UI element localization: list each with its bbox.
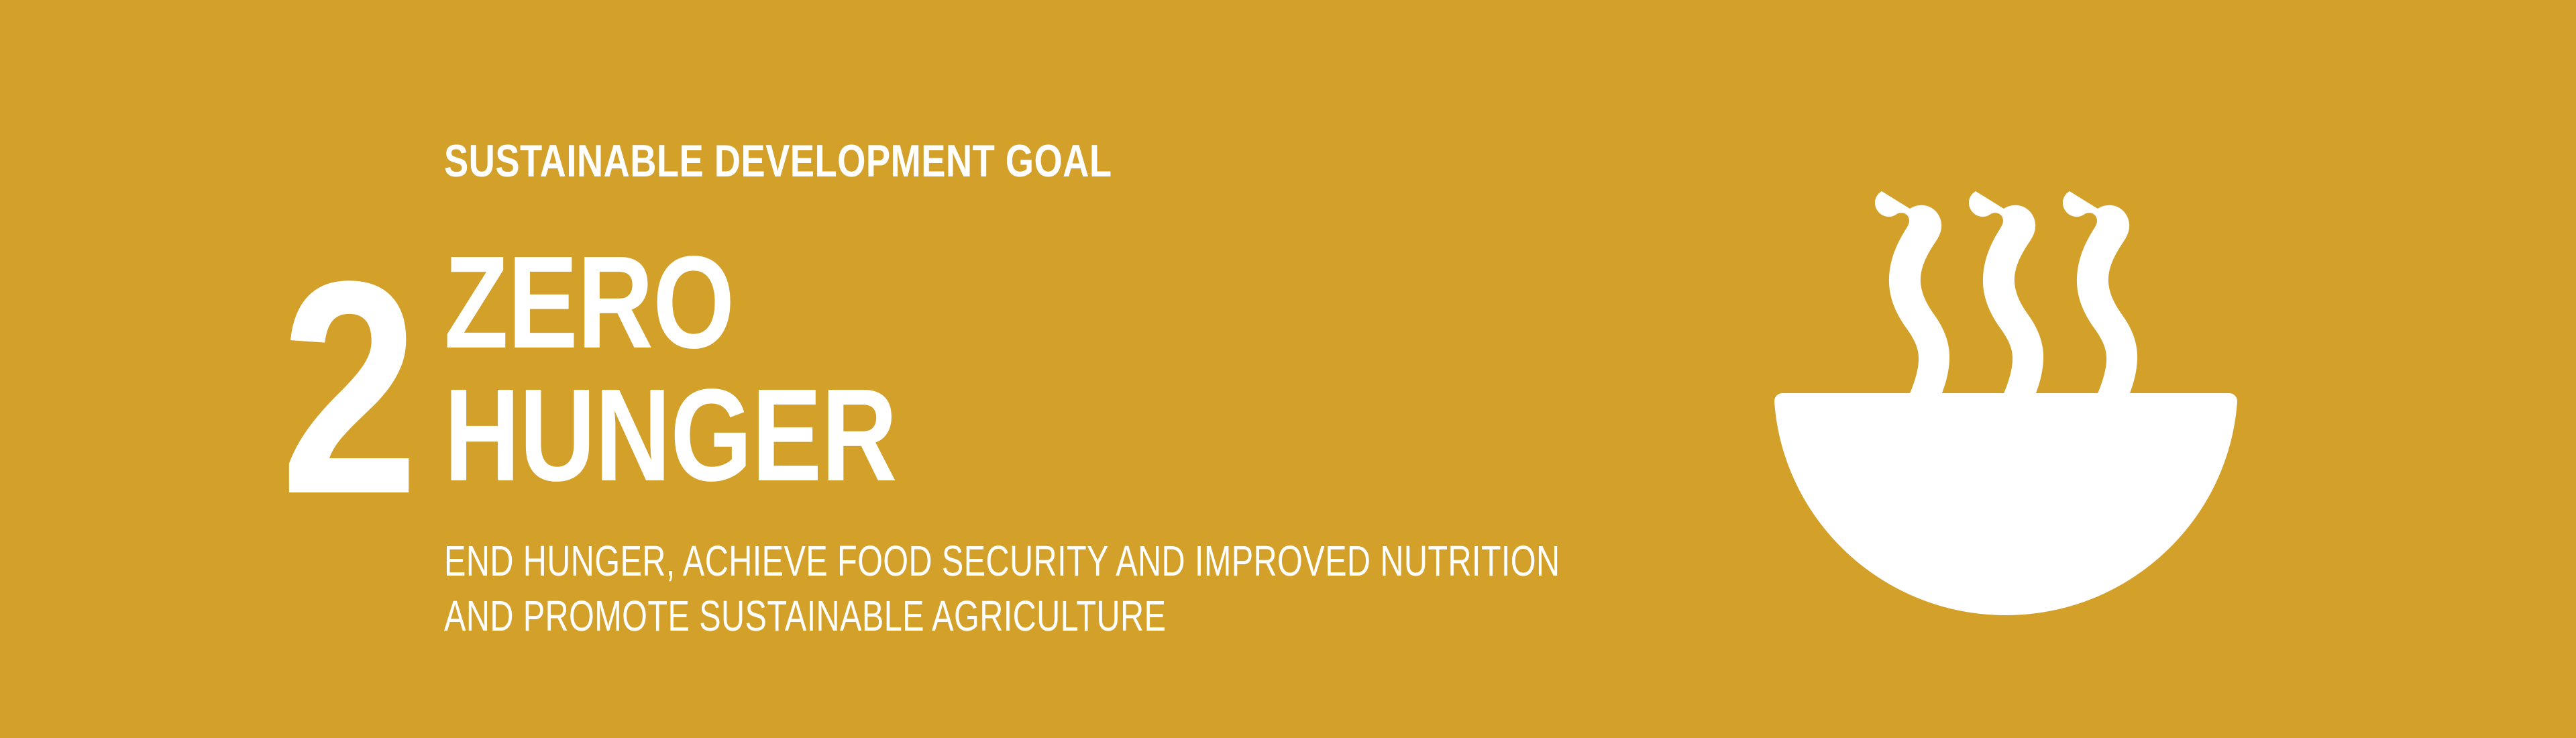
goal-title-line-2: HUNGER bbox=[444, 369, 897, 502]
steaming-bowl-icon bbox=[1744, 168, 2267, 624]
bowl-foot bbox=[1931, 568, 2081, 594]
goal-text-block: SUSTAINABLE DEVELOPMENT GOAL 2 ZERO HUNG… bbox=[0, 0, 1610, 738]
goal-description-line-2: AND PROMOTE SUSTAINABLE AGRICULTURE bbox=[444, 588, 1560, 643]
goal-eyebrow-label: SUSTAINABLE DEVELOPMENT GOAL bbox=[444, 138, 1112, 184]
goal-title-line-1: ZERO bbox=[444, 236, 897, 369]
steam-line-3 bbox=[2063, 191, 2137, 401]
goal-description: END HUNGER, ACHIEVE FOOD SECURITY AND IM… bbox=[444, 533, 1560, 643]
sdg-2-banner: SUSTAINABLE DEVELOPMENT GOAL 2 ZERO HUNG… bbox=[0, 0, 2576, 738]
goal-title: ZERO HUNGER bbox=[444, 236, 897, 502]
steam-line-2 bbox=[1969, 191, 2043, 401]
goal-description-line-1: END HUNGER, ACHIEVE FOOD SECURITY AND IM… bbox=[444, 533, 1560, 588]
goal-number: 2 bbox=[280, 236, 380, 539]
steam-line-1 bbox=[1875, 191, 1949, 401]
